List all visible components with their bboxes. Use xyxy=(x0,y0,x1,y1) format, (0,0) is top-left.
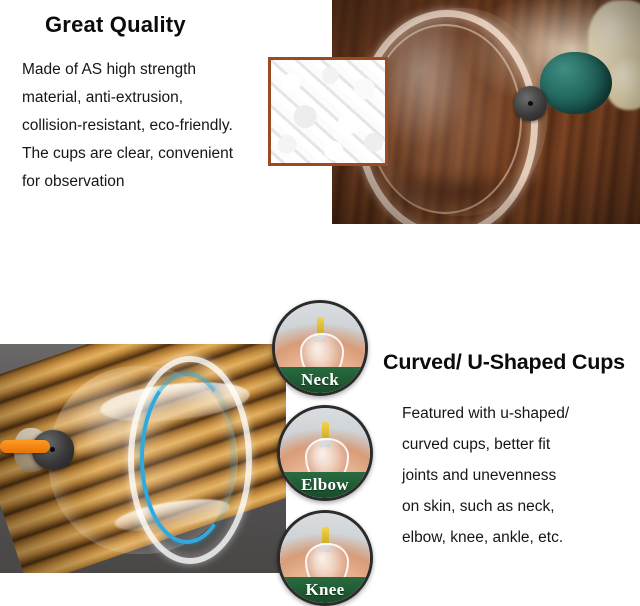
curved-line-3: joints and unevenness xyxy=(402,460,637,491)
quality-description: Made of AS high strength material, anti-… xyxy=(22,56,282,196)
badge-label-neck: Neck xyxy=(301,370,339,390)
quality-line-2: material, anti-extrusion, xyxy=(22,84,282,112)
page-title-curved: Curved/ U-Shaped Cups xyxy=(383,350,625,375)
quality-line-5: for observation xyxy=(22,168,282,196)
badge-neck: Neck xyxy=(272,300,368,396)
curved-line-2: curved cups, better fit xyxy=(402,429,637,460)
curved-product-photo xyxy=(0,344,286,573)
badge-knee: Knee xyxy=(277,510,373,606)
plastic-granules xyxy=(271,60,385,163)
u-shape-highlight-ring xyxy=(140,372,234,544)
quality-line-4: The cups are clear, convenient xyxy=(22,140,282,168)
badge-banner-knee: Knee xyxy=(280,577,370,603)
badge-banner-elbow: Elbow xyxy=(280,472,370,498)
badge-label-elbow: Elbow xyxy=(301,475,349,495)
badge-banner-neck: Neck xyxy=(275,367,365,393)
page-title-quality: Great Quality xyxy=(45,12,186,38)
quality-line-3: collision-resistant, eco-friendly. xyxy=(22,112,282,140)
product-feature-graphic: Great Quality Made of AS high strength m… xyxy=(0,0,640,605)
curved-line-5: elbow, knee, ankle, etc. xyxy=(402,522,637,553)
material-inset-photo xyxy=(268,57,388,166)
curved-description: Featured with u-shaped/ curved cups, bet… xyxy=(402,398,637,553)
badge-label-knee: Knee xyxy=(306,580,345,600)
curved-line-4: on skin, such as neck, xyxy=(402,491,637,522)
orange-suction-tube xyxy=(0,440,50,453)
curved-line-1: Featured with u-shaped/ xyxy=(402,398,637,429)
badge-elbow: Elbow xyxy=(277,405,373,501)
quality-line-1: Made of AS high strength xyxy=(22,56,282,84)
